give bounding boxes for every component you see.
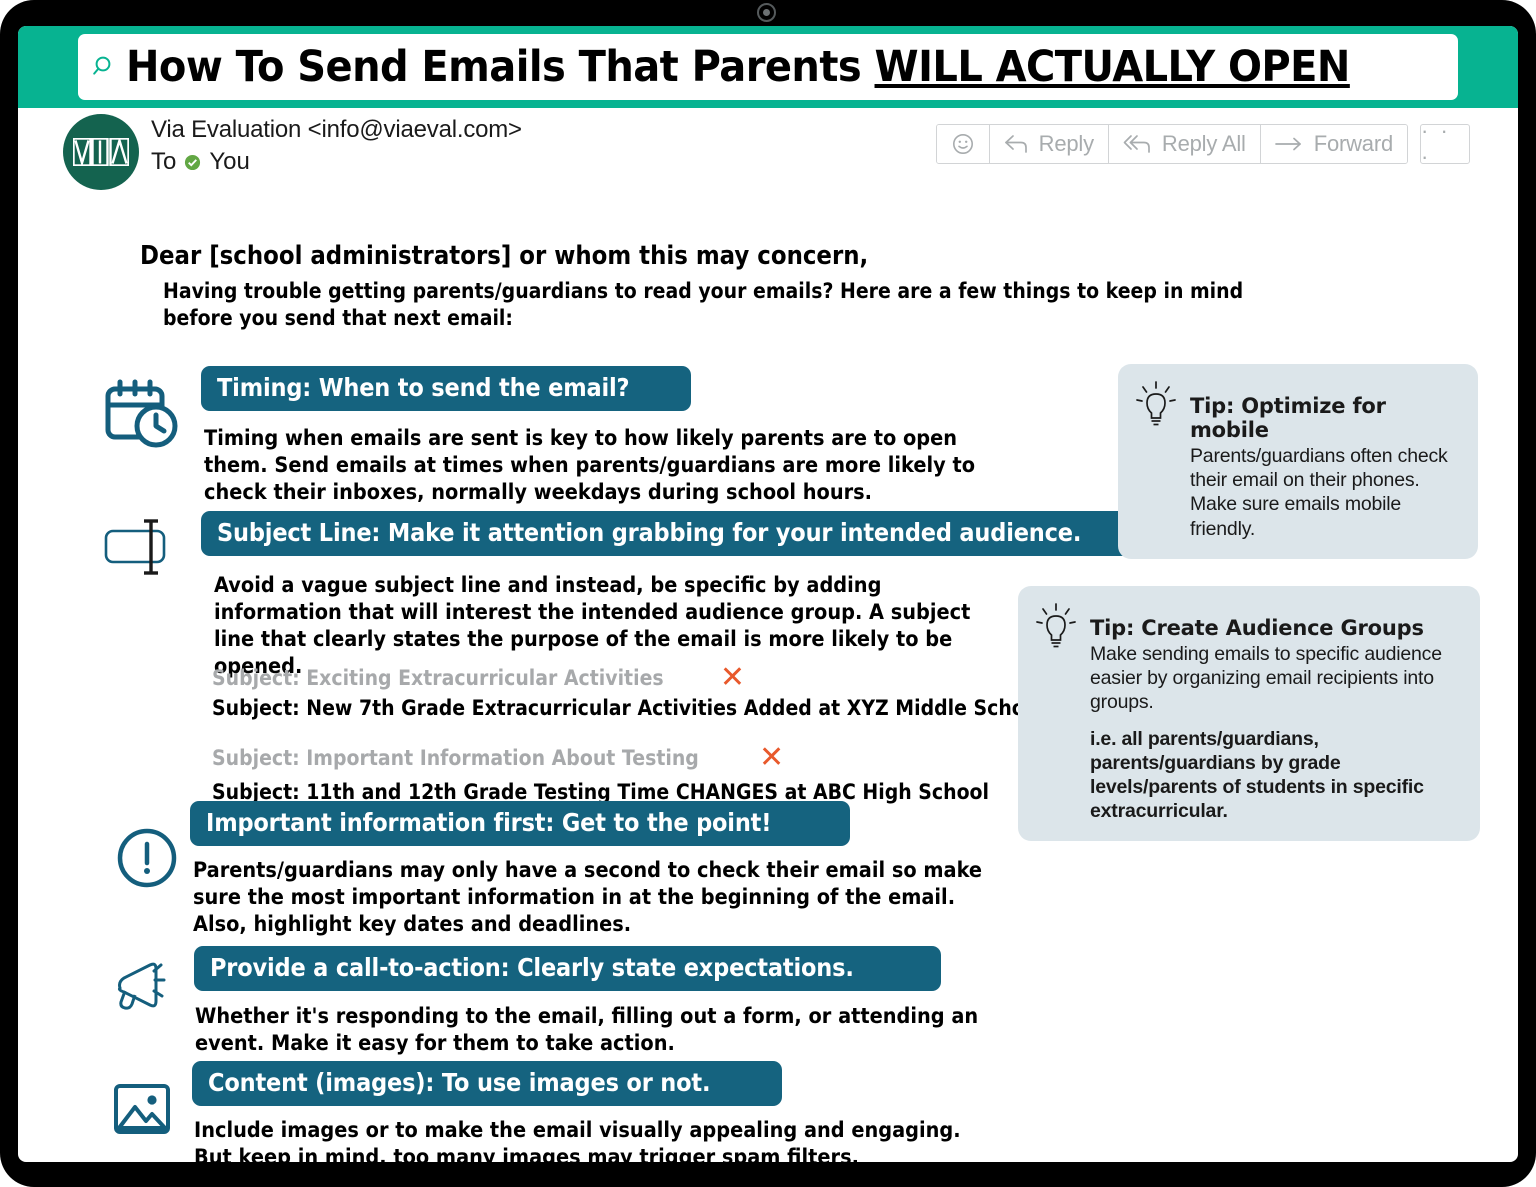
- section-timing-badge: Timing: When to send the email?: [201, 366, 691, 411]
- email-action-toolbar: Reply Reply All: [936, 124, 1470, 164]
- header-green-bar: How To Send Emails That Parents WILL ACT…: [18, 26, 1518, 108]
- x-mark-icon: ✕: [759, 743, 784, 773]
- exclamation-circle-icon: [116, 827, 178, 889]
- email-body: Dear [school administrators] or whom thi…: [18, 186, 1518, 1162]
- section-important-badge-label: Important information first: Get to the …: [206, 808, 771, 837]
- subject-example-text: Subject: Important Information About Tes…: [212, 746, 699, 770]
- tip-card-audience-groups: Tip: Create Audience Groups Make sending…: [1018, 586, 1480, 841]
- sender-info: Via Evaluation <info@viaeval.com> To You: [151, 116, 522, 176]
- tip-title: Tip: Optimize for mobile: [1190, 394, 1460, 442]
- page-title: How To Send Emails That Parents WILL ACT…: [126, 42, 1350, 92]
- lightbulb-icon: [1134, 380, 1180, 541]
- tip-title: Tip: Create Audience Groups: [1090, 616, 1462, 640]
- forward-label: Forward: [1314, 131, 1393, 157]
- reply-button[interactable]: Reply: [990, 125, 1109, 163]
- sender-address: Via Evaluation <info@viaeval.com>: [151, 116, 522, 144]
- more-options-button[interactable]: · · ·: [1420, 124, 1470, 164]
- email-header: Via Evaluation <info@viaeval.com> To You: [18, 108, 1518, 186]
- recipient-row: To You: [151, 148, 522, 176]
- section-important-body: Parents/guardians may only have a second…: [193, 858, 1003, 939]
- reply-arrow-icon: [1004, 134, 1030, 154]
- reply-all-label: Reply All: [1162, 131, 1246, 157]
- section-cta-badge-label: Provide a call-to-action: Clearly state …: [210, 953, 854, 982]
- forward-button[interactable]: Forward: [1261, 125, 1407, 163]
- reply-all-button[interactable]: Reply All: [1109, 125, 1261, 163]
- verified-check-icon: [184, 154, 201, 171]
- tip-paragraph: Parents/guardians often check their emai…: [1190, 444, 1460, 541]
- subject-example-text: Subject: New 7th Grade Extracurricular A…: [212, 696, 1044, 720]
- section-images-badge: Content (images): To use images or not.: [192, 1061, 782, 1106]
- tip-paragraph-bold: i.e. all parents/guardians, parents/guar…: [1090, 727, 1462, 824]
- forward-arrow-icon: [1275, 136, 1305, 152]
- page-title-plain: How To Send Emails That Parents: [126, 42, 875, 92]
- salutation-text: Dear [school administrators] or whom thi…: [140, 241, 868, 271]
- section-cta-body: Whether it's responding to the email, fi…: [195, 1004, 1032, 1058]
- section-timing-badge-label: Timing: When to send the email?: [217, 373, 629, 402]
- section-images-body: Include images or to make the email visu…: [194, 1118, 1004, 1162]
- lightbulb-icon: [1034, 602, 1080, 823]
- search-icon: [92, 54, 118, 80]
- camera-dot-icon: [757, 3, 776, 22]
- section-important-badge: Important information first: Get to the …: [190, 801, 850, 846]
- section-subject-badge: Subject Line: Make it attention grabbing…: [201, 511, 1193, 556]
- calendar-clock-icon: [105, 379, 179, 449]
- tablet-screen: How To Send Emails That Parents WILL ACT…: [18, 26, 1518, 1162]
- email-action-group: Reply Reply All: [936, 124, 1408, 164]
- section-timing-body: Timing when emails are sent is key to ho…: [204, 426, 1014, 507]
- subject-field-icon: [104, 519, 176, 575]
- tip-card-mobile: Tip: Optimize for mobile Parents/guardia…: [1118, 364, 1478, 559]
- megaphone-icon: [108, 960, 180, 1026]
- page-title-underlined: WILL ACTUALLY OPEN: [875, 42, 1350, 92]
- emoji-reaction-button[interactable]: [937, 125, 990, 163]
- via-logo-icon: [73, 138, 129, 166]
- search-input[interactable]: How To Send Emails That Parents WILL ACT…: [78, 34, 1458, 100]
- tip-content: Tip: Optimize for mobile Parents/guardia…: [1190, 380, 1460, 541]
- x-mark-icon: ✕: [720, 663, 745, 693]
- avatar: [63, 114, 139, 190]
- recipient-name: You: [209, 148, 250, 176]
- subject-example-text: Subject: Exciting Extracurricular Activi…: [212, 666, 664, 690]
- tip-paragraph: Make sending emails to specific audience…: [1090, 642, 1462, 715]
- reply-label: Reply: [1039, 131, 1094, 157]
- section-subject-badge-label: Subject Line: Make it attention grabbing…: [217, 518, 1081, 547]
- image-icon: [113, 1083, 175, 1141]
- tablet-device-frame: How To Send Emails That Parents WILL ACT…: [0, 0, 1536, 1187]
- smiley-icon: [951, 132, 975, 156]
- to-label: To: [151, 148, 176, 176]
- section-cta-badge: Provide a call-to-action: Clearly state …: [194, 946, 941, 991]
- tip-content: Tip: Create Audience Groups Make sending…: [1090, 602, 1462, 823]
- intro-paragraph: Having trouble getting parents/guardians…: [163, 278, 1315, 332]
- section-images-badge-label: Content (images): To use images or not.: [208, 1068, 710, 1097]
- reply-all-arrow-icon: [1123, 134, 1153, 154]
